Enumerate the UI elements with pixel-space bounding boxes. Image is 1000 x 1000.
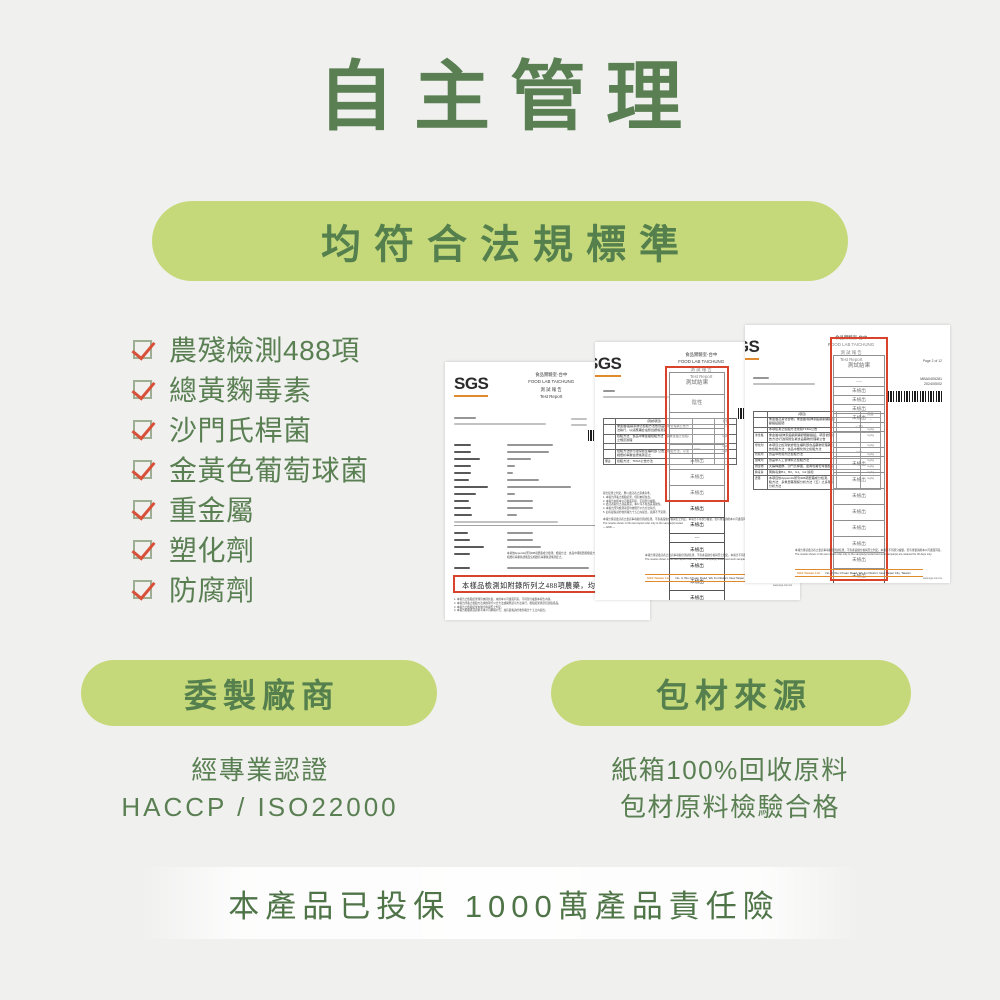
list-item: 塑化劑 <box>133 529 443 569</box>
results-highlight-box <box>665 366 729 502</box>
checkmark-icon <box>133 420 152 439</box>
checkmark-icon <box>133 540 152 559</box>
report-heading: 食品實驗室-台中 FOOD LAB TAICHUNG 測 試 報 告 Test … <box>528 371 574 400</box>
sgs-logo: SGS <box>595 354 621 374</box>
page-number: Page 2 of 12 <box>923 359 942 363</box>
packaging-caption: 紙箱100%回收原料 包材原料檢驗合格 <box>530 752 930 826</box>
poster-root: 自主管理 均符合法規標準 農殘檢測488項 總黃麴毒素 沙門氏桿菌 金黃色葡萄球… <box>0 0 1000 1000</box>
checklist-item-label: 金黃色葡萄球菌 <box>169 449 369 489</box>
barcode <box>888 391 942 402</box>
checkmark-icon <box>133 340 152 359</box>
checkmark-icon <box>133 380 152 399</box>
insurance-banner: 本產品已投保 1000萬產品責任險 <box>140 867 862 939</box>
list-item: 沙門氏桿菌 <box>133 409 443 449</box>
sgs-report-page-3: SGS 食品實驗室-台中 FOOD LAB TAICHUNG 測 試 報 告 T… <box>745 325 950 583</box>
section-pill-label: 包材來源 <box>650 669 812 717</box>
list-item: 重金屬 <box>133 489 443 529</box>
subtitle-pill-label: 均符合法規標準 <box>308 212 692 270</box>
section-pill-manufacturer: 委製廠商 <box>81 660 437 726</box>
caption-line: 紙箱100%回收原料 <box>530 752 930 789</box>
sgs-report-stack: SGS 食品實驗室-台中 FOOD LAB TAICHUNG 測 試 報 告 T… <box>430 322 940 627</box>
checkmark-icon <box>133 460 152 479</box>
sgs-logo: SGS <box>745 337 759 357</box>
checklist-item-label: 重金屬 <box>169 489 255 529</box>
list-item: 農殘檢測488項 <box>133 329 443 369</box>
results-highlight-box <box>830 337 888 581</box>
report-number: MBA0405281 2024/05/02 <box>920 377 942 388</box>
list-item: 金黃色葡萄球菌 <box>133 449 443 489</box>
page-title: 自主管理 <box>0 58 1000 138</box>
checklist-item-label: 總黃麴毒素 <box>169 369 312 409</box>
caption-line: 經專業認證 <box>60 752 460 789</box>
section-pill-label: 委製廠商 <box>178 669 340 717</box>
caption-line: 包材原料檢驗合格 <box>530 789 930 826</box>
checklist-item-label: 沙門氏桿菌 <box>169 409 312 449</box>
section-pill-packaging: 包材來源 <box>551 660 911 726</box>
caption-line: HACCP / ISO22000 <box>60 789 460 826</box>
subtitle-pill: 均符合法規標準 <box>152 201 848 281</box>
manufacturer-caption: 經專業認證 HACCP / ISO22000 <box>60 752 460 826</box>
checklist-item-label: 防腐劑 <box>169 569 255 609</box>
checkmark-icon <box>133 580 152 599</box>
checklist-item-label: 塑化劑 <box>169 529 255 569</box>
test-checklist: 農殘檢測488項 總黃麴毒素 沙門氏桿菌 金黃色葡萄球菌 重金屬 塑化劑 防腐劑 <box>133 329 443 609</box>
checkmark-icon <box>133 500 152 519</box>
sgs-logo: SGS <box>454 374 488 394</box>
checklist-item-label: 農殘檢測488項 <box>169 329 360 369</box>
list-item: 防腐劑 <box>133 569 443 609</box>
insurance-text: 本產品已投保 1000萬產品責任險 <box>222 881 780 926</box>
list-item: 總黃麴毒素 <box>133 369 443 409</box>
